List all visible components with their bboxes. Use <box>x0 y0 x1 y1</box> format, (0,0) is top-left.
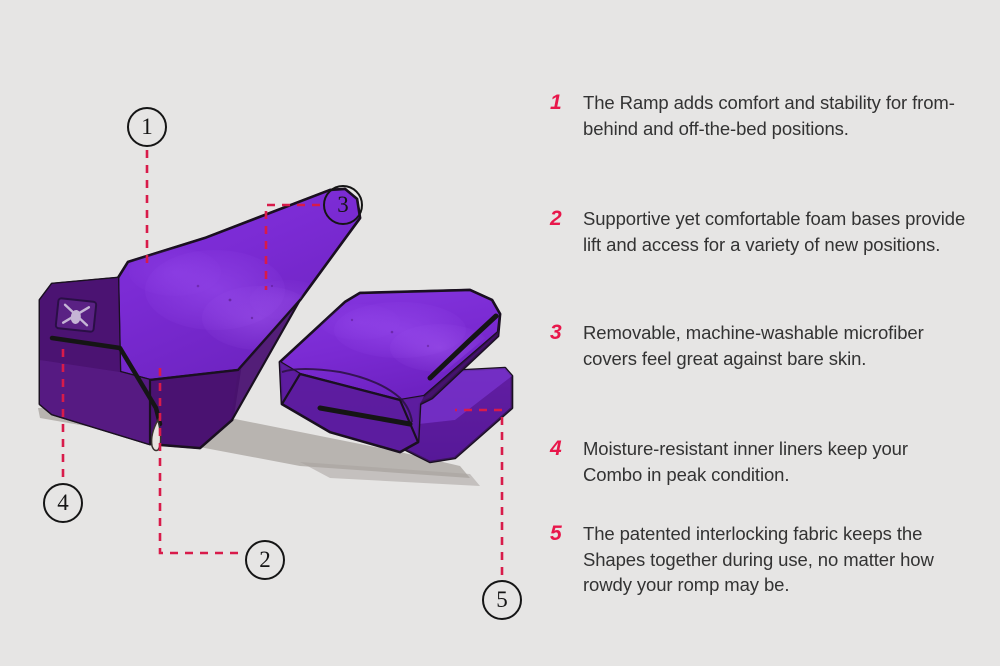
feature-text-4: Moisture-resistant inner liners keep you… <box>583 436 970 487</box>
feature-text-5: The patented interlocking fabric keeps t… <box>583 521 970 598</box>
callout-marker-5-label: 5 <box>496 588 508 611</box>
feature-item-2: 2 Supportive yet comfortable foam bases … <box>550 206 970 257</box>
feature-number-5: 5 <box>550 521 583 547</box>
feature-item-3: 3 Removable, machine-washable microfiber… <box>550 320 970 371</box>
callout-marker-2[interactable]: 2 <box>245 540 285 580</box>
feature-number-3: 3 <box>550 320 583 346</box>
diagram-canvas: 1 2 3 4 5 1 The Ramp adds comfort and st… <box>0 0 1000 666</box>
callout-marker-2-label: 2 <box>259 548 271 571</box>
feature-number-1: 1 <box>550 90 583 116</box>
callout-marker-4-label: 4 <box>57 491 69 514</box>
brand-tag-patch <box>56 298 97 332</box>
feature-item-1: 1 The Ramp adds comfort and stability fo… <box>550 90 970 141</box>
callout-marker-1[interactable]: 1 <box>127 107 167 147</box>
feature-number-4: 4 <box>550 436 583 462</box>
feature-text-1: The Ramp adds comfort and stability for … <box>583 90 970 141</box>
feature-text-3: Removable, machine-washable microfiber c… <box>583 320 970 371</box>
callout-marker-3[interactable]: 3 <box>323 185 363 225</box>
feature-number-2: 2 <box>550 206 583 232</box>
feature-text-2: Supportive yet comfortable foam bases pr… <box>583 206 970 257</box>
callout-marker-4[interactable]: 4 <box>43 483 83 523</box>
feature-item-4: 4 Moisture-resistant inner liners keep y… <box>550 436 970 487</box>
feature-item-5: 5 The patented interlocking fabric keeps… <box>550 521 970 598</box>
callout-marker-1-label: 1 <box>141 115 153 138</box>
callout-marker-3-label: 3 <box>337 193 349 216</box>
feature-list: 1 The Ramp adds comfort and stability fo… <box>544 0 1000 666</box>
callout-marker-5[interactable]: 5 <box>482 580 522 620</box>
